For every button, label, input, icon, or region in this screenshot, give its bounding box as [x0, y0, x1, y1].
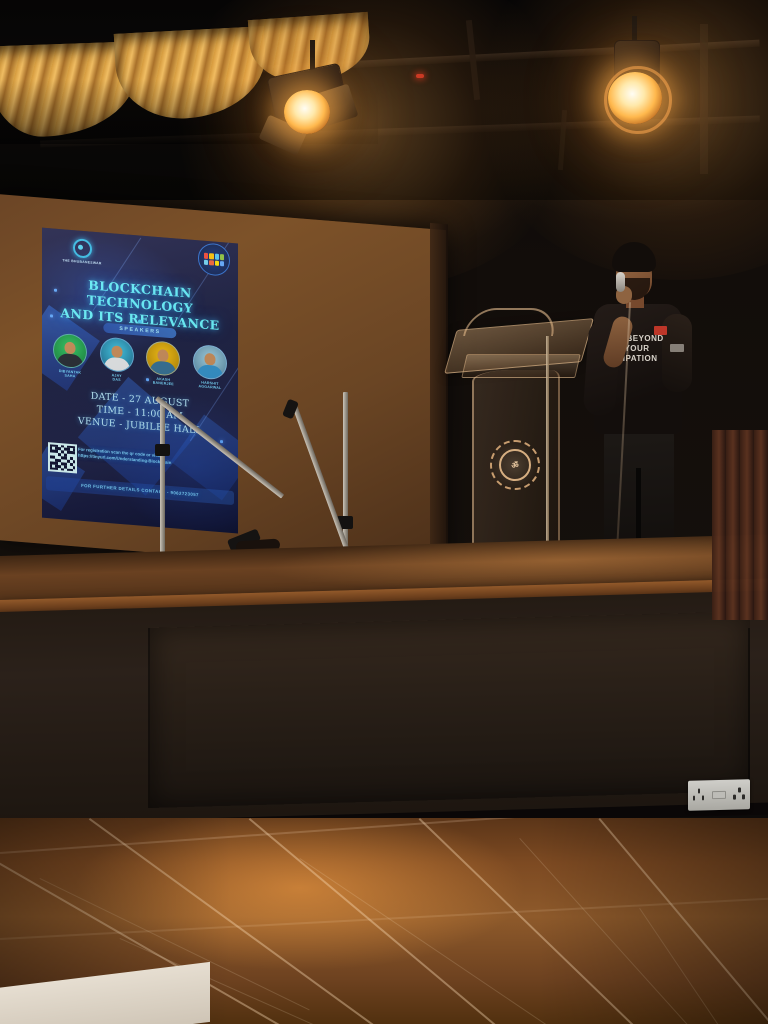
slide-accent-dot	[138, 319, 142, 323]
indicator-led	[416, 74, 424, 78]
tile-seam	[599, 818, 768, 1024]
speaker-avatar	[193, 344, 227, 381]
qr-matrix	[50, 444, 76, 472]
tshirt-flag-badge	[654, 326, 667, 335]
speaker-name: HARSHITAGGARWAL	[190, 380, 230, 392]
truss-strut	[700, 24, 708, 174]
emblem-symbol: ॐ	[511, 460, 518, 471]
projection-screen: THE BHUBANESWAR BLOCKCHAIN TECHNOLOGY AN…	[0, 194, 446, 576]
wall-power-socket[interactable]	[688, 779, 750, 811]
speaker-card: DIBYANTAKSAHA	[50, 332, 90, 380]
avatar-torso	[57, 353, 83, 369]
panel-seam	[148, 628, 150, 808]
truss-strut	[558, 110, 567, 170]
avatar-torso	[150, 360, 176, 376]
speaker-avatar	[146, 340, 180, 377]
speaker-name: AJAYDAS	[97, 372, 137, 384]
stand-clamp	[155, 444, 170, 456]
stage-photo-scene: THE BHUBANESWAR BLOCKCHAIN TECHNOLOGY AN…	[0, 0, 768, 1024]
event-details: DATE - 27 AUGUST TIME - 11:00 AM VENUE -…	[42, 386, 238, 441]
avatar-head	[158, 349, 169, 362]
marble-vein	[639, 908, 740, 1024]
slide-decor-dot	[220, 440, 223, 443]
avatar-torso	[197, 364, 223, 380]
organizer-logo-left: THE BHUBANESWAR	[56, 237, 108, 266]
spotlight-lens	[284, 90, 330, 134]
marble-vein	[299, 858, 581, 1024]
marble-vein	[519, 838, 720, 1024]
podium-lip	[461, 354, 581, 378]
projected-slide: THE BHUBANESWAR BLOCKCHAIN TECHNOLOGY AN…	[42, 228, 238, 534]
avatar-torso	[104, 357, 130, 373]
avatar-head	[111, 345, 122, 358]
spotlight-lens	[608, 72, 662, 124]
emblem-inner-ring: ॐ	[499, 449, 531, 481]
speaker-avatar	[100, 336, 134, 373]
avatar-head	[65, 342, 76, 355]
tile-seam	[0, 818, 768, 853]
speaker-card: HARSHITAGGARWAL	[190, 344, 230, 392]
speaker-name: AKASHBANERJEE	[143, 376, 183, 388]
stage-front-panel	[150, 611, 750, 808]
logo-grid-icon	[204, 253, 224, 267]
avatar-head	[204, 353, 215, 366]
podium-mic-rod	[546, 336, 549, 556]
side-curtain-right	[712, 430, 768, 620]
sleeve-logo	[670, 344, 684, 352]
tile-seam	[0, 897, 768, 940]
organizer-logo-label: THE BHUBANESWAR	[56, 258, 108, 266]
socket-switch[interactable]	[712, 791, 726, 799]
handheld-microphone	[616, 272, 625, 292]
socket-outlet-left	[691, 787, 707, 803]
speaker-card: AJAYDAS	[97, 336, 137, 384]
logo-ring-icon	[73, 238, 92, 259]
socket-outlet-right	[731, 786, 747, 802]
tile-seam	[249, 818, 572, 1024]
qr-code	[48, 442, 77, 473]
tile-seam	[419, 818, 708, 1024]
podium-emblem: ॐ	[490, 440, 540, 490]
speaker-card: AKASHBANERJEE	[143, 340, 183, 388]
speaker-avatar	[53, 333, 87, 370]
speakers-row: DIBYANTAKSAHA AJAYDAS	[50, 332, 230, 391]
presenter-hair	[612, 242, 656, 272]
